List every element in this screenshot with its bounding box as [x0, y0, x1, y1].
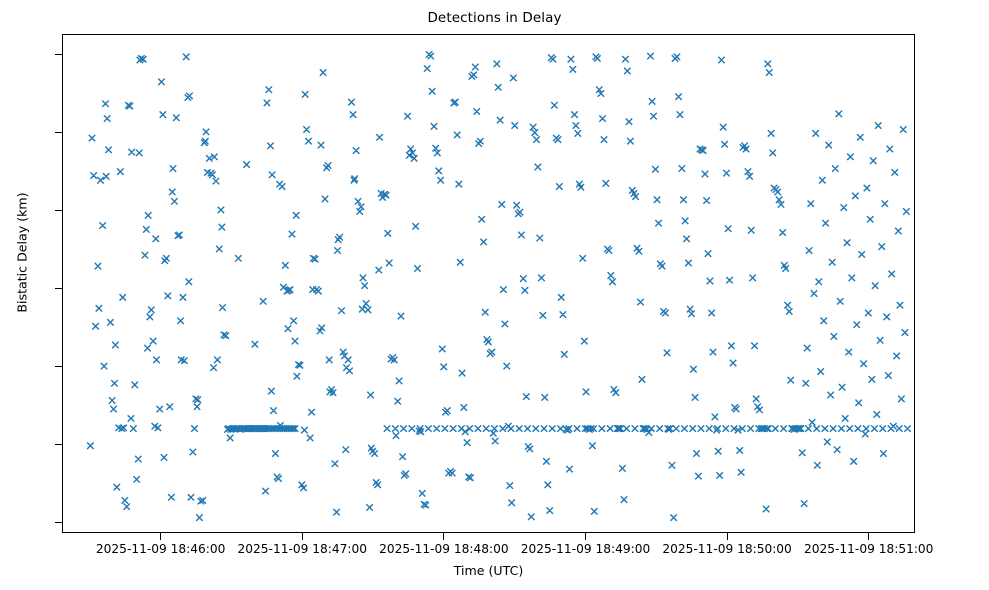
x-tick-mark: [302, 533, 303, 540]
y-axis-label: Bistatic Delay (km): [15, 113, 30, 393]
x-tick-mark: [727, 533, 728, 540]
y-tick-mark: [55, 444, 62, 445]
scatter-series-layer: [63, 35, 915, 533]
scatter-marker-path: [87, 51, 911, 521]
y-tick-mark: [55, 366, 62, 367]
x-tick-mark: [585, 533, 586, 540]
y-tick-mark: [55, 54, 62, 55]
x-axis-label: Time (UTC): [62, 563, 915, 578]
x-tick-mark: [443, 533, 444, 540]
x-tick-label: 2025-11-09 18:51:00: [779, 542, 959, 556]
x-tick-mark: [868, 533, 869, 540]
x-tick-mark: [160, 533, 161, 540]
page-title: Detections in Delay: [0, 10, 989, 26]
y-tick-mark: [55, 288, 62, 289]
scatter-points-svg: [63, 35, 915, 533]
y-tick-mark: [55, 210, 62, 211]
matplotlib-figure: Detections in Delay 0102030405060 2025-1…: [0, 0, 989, 590]
y-tick-mark: [55, 132, 62, 133]
plot-axes-area: [62, 34, 915, 533]
y-tick-mark: [55, 522, 62, 523]
